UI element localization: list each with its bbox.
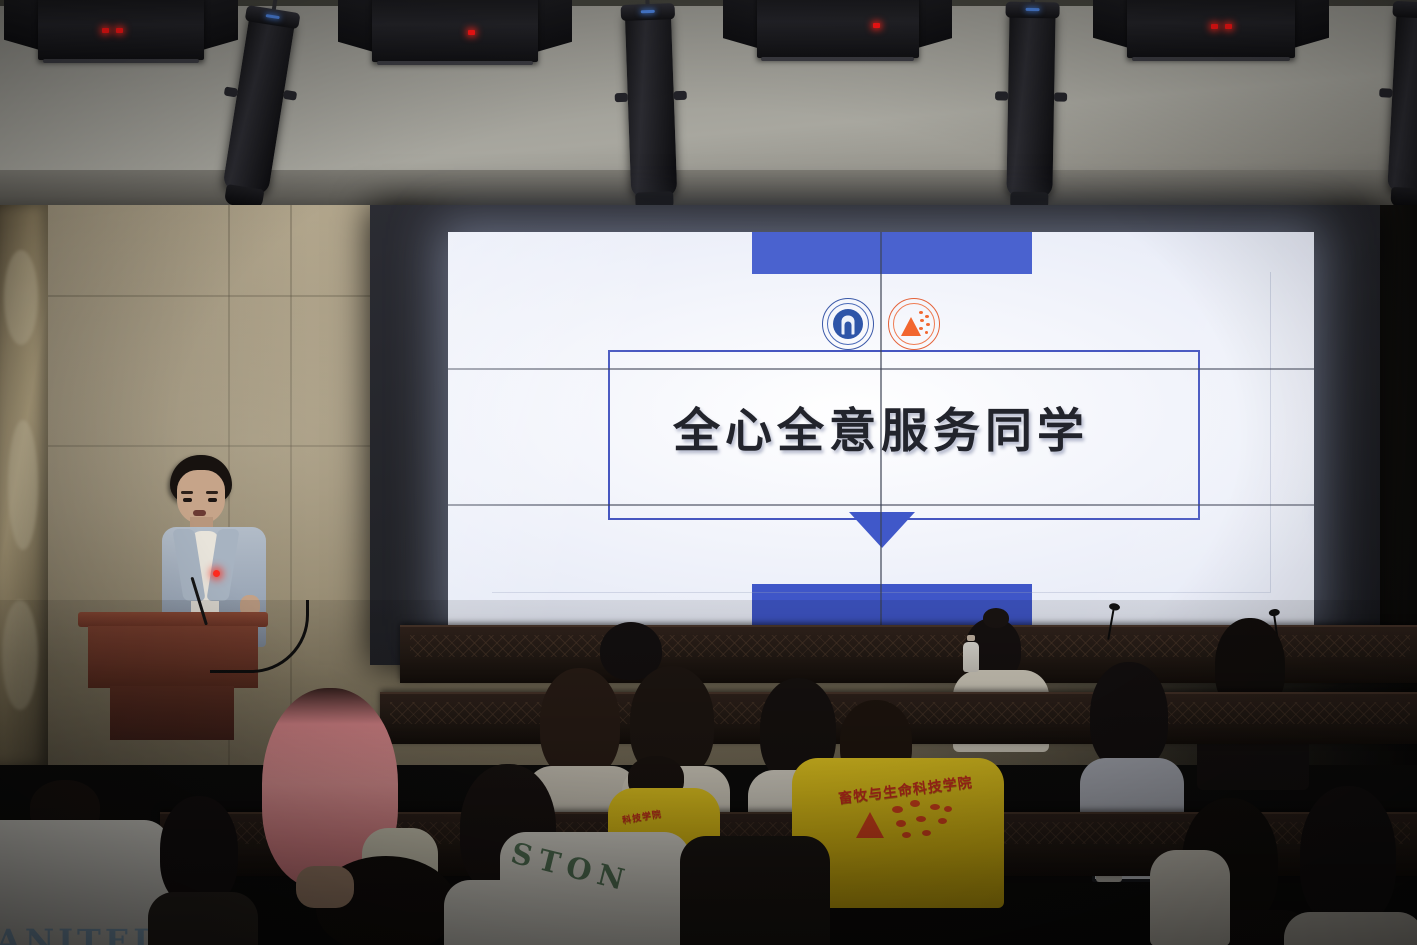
- spot-barrel: [1006, 6, 1055, 199]
- light-bar: [761, 57, 914, 61]
- power-led-indicator: [873, 23, 880, 28]
- attendee-far-corner-hair: [1300, 786, 1396, 926]
- attendee-mid-row-brown: [540, 668, 620, 778]
- spot-barrel: [1387, 5, 1417, 195]
- slide-triangle-marker: [849, 512, 915, 548]
- attendee-laptop-neighbor: [1090, 662, 1168, 770]
- auditorium-photo: 全心全意服务同学: [0, 0, 1417, 945]
- emblem-mountain-glyph: [901, 317, 921, 336]
- emblem-dot: [925, 331, 928, 334]
- spot-knob: [615, 93, 628, 102]
- panel-seam-vertical: [880, 232, 882, 632]
- status-led-blue: [1026, 8, 1040, 11]
- spot-barrel: [625, 7, 678, 198]
- shirt-dot-motif: [916, 816, 926, 822]
- video-wall-display[interactable]: 全心全意服务同学: [448, 232, 1314, 632]
- attendee-dark-hair-left: [160, 796, 238, 906]
- shirt-dot-motif: [938, 818, 947, 824]
- spot-knob: [674, 91, 687, 100]
- spot-knob: [283, 90, 297, 101]
- attendee-hand: [296, 866, 354, 908]
- power-led-indicator: [1225, 24, 1232, 29]
- slide-block-top: [752, 232, 1032, 274]
- shirt-dot-motif: [910, 800, 920, 807]
- emblem-dot: [925, 315, 929, 318]
- speaker-eyebrow: [181, 491, 193, 494]
- attendee-top: [148, 892, 258, 945]
- microphone-led-icon: [213, 570, 220, 577]
- emblem-dot: [920, 319, 924, 322]
- power-led-indicator: [102, 28, 109, 33]
- university-seal-logo: [822, 298, 874, 350]
- panel-seam-horizontal: [448, 368, 1314, 370]
- light-bar: [1132, 57, 1290, 61]
- spot-knob: [1379, 88, 1392, 98]
- speaker-mouth: [193, 510, 206, 516]
- profile-spotlight: [617, 7, 686, 199]
- water-bottle: [963, 642, 979, 672]
- shirt-dot-motif: [896, 820, 906, 827]
- hair-bun: [983, 608, 1009, 628]
- status-led-blue: [641, 10, 655, 13]
- spot-knob: [224, 87, 238, 98]
- emblem-dot: [919, 327, 923, 330]
- shirt-dot-motif: [930, 804, 940, 810]
- panel-seam-horizontal: [448, 504, 1314, 506]
- shirt-dot-motif: [922, 830, 931, 836]
- profile-spotlight: [998, 5, 1063, 198]
- college-emblem-logo: [888, 298, 940, 350]
- tee-latin-text: ANITED: [0, 922, 165, 945]
- led-panel-light: [725, 0, 950, 58]
- shirt-dot-motif: [944, 806, 952, 812]
- speaker-eye: [183, 498, 192, 502]
- emblem-dot: [919, 311, 923, 314]
- power-led-indicator: [1211, 24, 1218, 29]
- spot-lens: [1392, 1, 1417, 20]
- emblem-dot: [926, 323, 930, 326]
- speaker-eyebrow: [206, 491, 218, 494]
- spot-knob: [1054, 92, 1067, 101]
- spot-knob: [995, 91, 1008, 100]
- attendee-top: [1284, 912, 1417, 945]
- bottle-cap: [967, 635, 975, 641]
- light-bar: [43, 59, 199, 63]
- power-led-indicator: [468, 30, 475, 35]
- power-led-indicator: [116, 28, 123, 33]
- light-body: [372, 0, 538, 62]
- shirt-dot-motif: [902, 832, 911, 838]
- led-panel-light: [340, 0, 570, 62]
- audience-area: 畜牧与生命科技学院 科技学院 ANITED: [0, 600, 1417, 945]
- seal-gate-glyph: [842, 316, 855, 335]
- shirt-mountain-motif: [856, 812, 884, 838]
- led-panel-light: [1095, 0, 1327, 58]
- attendee-cream-sleeve: [1150, 850, 1230, 945]
- led-panel-light: [6, 0, 236, 60]
- light-bar: [377, 61, 533, 65]
- light-body: [1127, 0, 1294, 58]
- attendee-dark-jacket: [680, 836, 830, 945]
- speaker-eye: [208, 498, 217, 502]
- light-body: [757, 0, 919, 58]
- shirt-dot-motif: [892, 806, 903, 813]
